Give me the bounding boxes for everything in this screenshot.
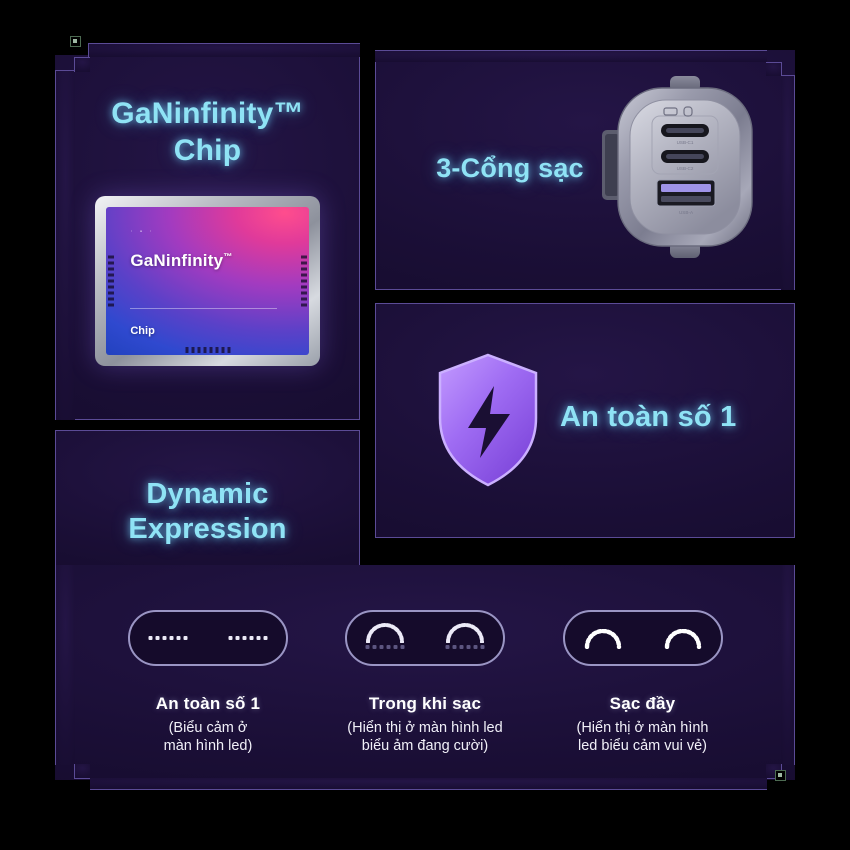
- svg-text:USB-C1: USB-C1: [677, 140, 694, 145]
- chip-die-label: GaNinfinity™: [130, 251, 232, 271]
- chip-die: ⋅ ▪ ⋅ GaNinfinity™ Chip: [106, 207, 309, 355]
- caption-title-idle: An toàn số 1: [108, 694, 308, 714]
- chip-die-sublabel: Chip: [130, 325, 154, 337]
- panel-chip-step-a: [74, 57, 90, 72]
- shield-svg: [432, 352, 544, 488]
- led-eye-right-happy: [660, 623, 706, 653]
- arc-left-happy: [583, 629, 623, 649]
- chip-illustration: ⋅ ▪ ⋅ GaNinfinity™ Chip: [95, 196, 320, 366]
- dotrow-right-dim: [446, 645, 485, 649]
- dotrow-right: [229, 636, 268, 640]
- safety-panel-title: An toàn số 1: [560, 400, 795, 435]
- chip-pads-bottom: [185, 347, 230, 353]
- led-eye-left-flat: [145, 623, 191, 653]
- chip-panel-title: GaNinfinity™ Chip: [55, 96, 360, 169]
- caption-subtitle-idle: (Biểu cảm ở màn hình led): [108, 719, 308, 756]
- panel-chip-edge-top: [88, 43, 360, 57]
- caption-title-charging: Trong khi sạc: [305, 694, 545, 714]
- panel-expressions-edge-right: [781, 565, 795, 765]
- panel-ports-edge-top: [375, 50, 767, 62]
- charger-svg: USB-C1 USB-C2 USB-A: [600, 72, 770, 262]
- charger-illustration: USB-C1 USB-C2 USB-A: [600, 72, 770, 262]
- led-display-full: [563, 610, 723, 666]
- infographic-poster: GaNinfinity™ Chip ⋅ ▪ ⋅ GaNinfinity™ Chi…: [0, 0, 850, 850]
- panel-ports-edge-right: [781, 75, 795, 290]
- chip-pads-right: [301, 256, 307, 307]
- caption-title-full: Sạc đầy: [535, 694, 750, 714]
- expression-caption-charging: Trong khi sạc (Hiển thị ở màn hình led b…: [305, 694, 545, 756]
- expression-caption-idle: An toàn số 1 (Biểu cảm ở màn hình led): [108, 694, 308, 756]
- chip-die-label-tm: ™: [223, 252, 232, 262]
- led-display-charging: [345, 610, 505, 666]
- led-eye-left-happy: [580, 623, 626, 653]
- led-eye-left-arc: [362, 623, 408, 653]
- chip-die-label-text: GaNinfinity: [130, 251, 223, 270]
- caption-subtitle-charging: (Hiển thị ở màn hình led biểu ảm đang cư…: [305, 719, 545, 756]
- chip-pads-left: [108, 256, 114, 307]
- arc-right: [444, 623, 486, 643]
- svg-text:USB-C2: USB-C2: [677, 166, 694, 171]
- panel-expressions-step-bl: [74, 764, 90, 779]
- caption-subtitle-full: (Hiển thị ở màn hình led biểu cảm vui vẻ…: [535, 719, 750, 756]
- dotrow-left: [149, 636, 188, 640]
- chip-micro-marks: ⋅ ▪ ⋅: [130, 228, 154, 235]
- chip-die-rule: [130, 308, 276, 309]
- shield-icon: [432, 352, 544, 488]
- dynamic-panel-title: Dynamic Expression: [55, 477, 360, 548]
- led-eye-right-arc: [442, 623, 488, 653]
- expression-caption-full: Sạc đầy (Hiển thị ở màn hình led biểu cả…: [535, 694, 750, 756]
- corner-marker-top-left: [70, 36, 81, 47]
- corner-marker-bottom-right: [775, 770, 786, 781]
- led-eye-right-flat: [225, 623, 271, 653]
- ports-panel-title: 3-Cổng sạc: [395, 152, 625, 185]
- svg-text:USB-A: USB-A: [679, 210, 694, 215]
- arc-right-happy: [663, 629, 703, 649]
- led-display-idle: [128, 610, 288, 666]
- dotrow-left-dim: [366, 645, 405, 649]
- arc-left: [364, 623, 406, 643]
- panel-expressions-edge-left: [55, 565, 75, 765]
- panel-expressions-edge-bottom: [90, 778, 767, 790]
